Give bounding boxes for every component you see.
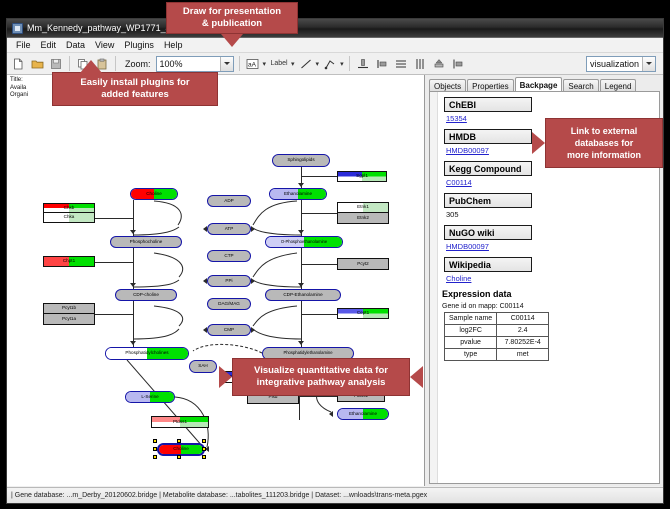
- callout-plugins-arrow: [80, 60, 102, 73]
- toolbar-separator: [115, 56, 116, 71]
- node-choline-selected[interactable]: Choline: [157, 443, 205, 456]
- chevron-down-icon[interactable]: [220, 57, 233, 71]
- node-dag-mag[interactable]: DAG/MAG: [207, 298, 251, 310]
- node-label: Phosphocholine: [130, 240, 163, 245]
- node-ptdss1[interactable]: Ptdss1: [151, 416, 209, 428]
- callout-draw-line1: Draw for presentation: [183, 6, 281, 18]
- arrow-icon: [251, 226, 255, 232]
- node-label: Phosphatidylcholines: [125, 351, 168, 356]
- chevron-down-icon[interactable]: [642, 57, 655, 71]
- node-label: CMP: [224, 328, 234, 333]
- zoom-label: Zoom:: [125, 59, 151, 69]
- edge-chk-to-spine: [95, 218, 133, 219]
- pathway-canvas[interactable]: Title: Availa Organi: [7, 75, 425, 486]
- info-organism-label: Organi: [10, 92, 28, 100]
- node-label: Sgpl1: [356, 174, 368, 179]
- node-label: Cept1: [357, 311, 369, 316]
- node-sah[interactable]: SAH: [189, 360, 217, 373]
- chevron-down-icon[interactable]: ▾: [316, 60, 320, 68]
- info-available-label: Availa: [10, 85, 28, 93]
- arrow-icon: [130, 230, 136, 234]
- selection-handle[interactable]: [177, 439, 181, 443]
- zoom-combobox[interactable]: 100%: [156, 56, 234, 72]
- align-left-icon[interactable]: [374, 56, 390, 72]
- callout-link-line2: databases for: [575, 137, 634, 149]
- callout-plugins-line2: added features: [101, 89, 169, 101]
- node-label: Ptdss1: [173, 420, 187, 425]
- new-file-icon[interactable]: [10, 56, 26, 72]
- side-panel-tabs: Objects Properties Backpage Search Legen…: [425, 75, 663, 91]
- interaction-tool-icon[interactable]: [322, 56, 338, 72]
- edge-pcyt2-to-spine: [301, 264, 337, 265]
- selection-handle[interactable]: [153, 447, 157, 451]
- node-o-phosphoethanolamine[interactable]: O-Phosphoethanolamine: [265, 236, 343, 248]
- info-title-label: Title:: [10, 77, 28, 85]
- node-pcyt2[interactable]: Pcyt2: [337, 258, 389, 270]
- menu-item-help[interactable]: Help: [159, 38, 188, 52]
- visualization-value: visualization: [590, 59, 639, 69]
- expr-key: Sample name: [445, 313, 497, 325]
- node-label: CDP-choline: [133, 293, 159, 298]
- node-etnk2[interactable]: Etnk2: [337, 213, 389, 224]
- node-cmp[interactable]: CMP: [207, 324, 251, 336]
- db-link-wikipedia[interactable]: Choline: [446, 274, 657, 283]
- node-atp[interactable]: ATP: [207, 223, 251, 235]
- callout-link-databases: Link to external databases for more info…: [545, 118, 663, 168]
- selection-handle[interactable]: [202, 447, 206, 451]
- arrow-icon: [203, 226, 207, 232]
- arrow-icon: [298, 230, 304, 234]
- menu-item-plugins[interactable]: Plugins: [119, 38, 159, 52]
- callout-visualize: Visualize quantitative data for integrat…: [232, 358, 410, 396]
- node-label: Choline: [146, 192, 162, 197]
- menu-item-edit[interactable]: Edit: [36, 38, 62, 52]
- node-label: L-Serine: [141, 395, 158, 400]
- expression-table: Sample name C00114 log2FC 2.4 pvalue 7.8…: [444, 312, 549, 361]
- node-label: Etnk2: [357, 216, 369, 221]
- status-bar: | Gene database: ...m_Derby_20120602.bri…: [7, 487, 663, 503]
- edge-ptdss2-to-spine: [299, 396, 337, 397]
- distribute-horizontal-icon[interactable]: [412, 56, 428, 72]
- visualization-combobox[interactable]: visualization: [586, 56, 656, 72]
- zoom-value: 100%: [160, 59, 183, 69]
- text-format-icon[interactable]: aA: [245, 56, 261, 72]
- db-header-hmdb: HMDB: [444, 129, 532, 144]
- tab-backpage[interactable]: Backpage: [515, 77, 563, 92]
- expr-key: type: [445, 349, 497, 361]
- node-phosphocholine[interactable]: Phosphocholine: [110, 236, 182, 248]
- node-label: Pcyt1b: [62, 306, 76, 311]
- node-chka[interactable]: Chka: [43, 213, 95, 223]
- node-ppi[interactable]: PPi: [207, 275, 251, 287]
- expr-val: 2.4: [497, 325, 549, 337]
- arrow-icon: [203, 278, 207, 284]
- table-row: pvalue 7.80252E-4: [445, 337, 549, 349]
- callout-draw-line2: & publication: [202, 18, 262, 30]
- node-label: DAG/MAG: [218, 302, 240, 307]
- callout-plugins-line1: Easily install plugins for: [80, 77, 189, 89]
- db-header-wikipedia: Wikipedia: [444, 257, 532, 272]
- svg-text:aA: aA: [248, 61, 257, 68]
- toolbar-separator: [349, 56, 350, 71]
- node-label: Pcyt2: [357, 262, 369, 267]
- callout-draw-arrow: [221, 34, 243, 47]
- label-dropdown[interactable]: Label: [269, 56, 289, 72]
- node-l-serine-left[interactable]: L-Serine: [125, 391, 175, 403]
- selection-handle[interactable]: [153, 455, 157, 459]
- menu-item-data[interactable]: Data: [61, 38, 90, 52]
- node-phosphatidylcholines[interactable]: Phosphatidylcholines: [105, 347, 189, 360]
- db-header-nugo-wiki: NuGO wiki: [444, 225, 532, 240]
- callout-link-line3: more information: [567, 149, 641, 161]
- node-label: CDP-Ethanolamine: [283, 293, 322, 298]
- node-pcyt1b[interactable]: Pcyt1b: [43, 303, 95, 314]
- callout-plugins: Easily install plugins for added feature…: [52, 72, 218, 106]
- arrow-icon: [203, 327, 207, 333]
- node-label: Pcyt1a: [62, 317, 76, 322]
- db-link-kegg-compound[interactable]: C00114: [446, 178, 657, 187]
- table-row: Sample name C00114: [445, 313, 549, 325]
- selection-handle[interactable]: [202, 439, 206, 443]
- expression-data-heading: Expression data: [442, 289, 657, 299]
- selection-handle[interactable]: [153, 439, 157, 443]
- arrow-icon: [130, 283, 136, 287]
- edge-cept1-to-spine: [301, 314, 337, 315]
- gene-id-line: Gene id on mapp: C00114: [442, 303, 657, 310]
- node-label: ADP: [224, 199, 233, 204]
- node-label: SAH: [198, 364, 207, 369]
- table-row: log2FC 2.4: [445, 325, 549, 337]
- db-value-pubchem: 305: [446, 210, 657, 219]
- node-ctp[interactable]: CTP: [207, 250, 251, 262]
- arrow-icon: [298, 183, 304, 187]
- edge-chpt1-to-spine: [95, 262, 133, 263]
- node-label: Choline: [173, 447, 189, 452]
- node-cdp-ethanolamine[interactable]: CDP-Ethanolamine: [265, 289, 341, 301]
- node-chkb[interactable]: Chkb: [43, 203, 95, 213]
- save-icon[interactable]: [48, 56, 64, 72]
- node-cdp-choline[interactable]: CDP-choline: [115, 289, 177, 301]
- screenshot-root: Mm_Kennedy_pathway_WP1771_45176.gpml Fil…: [0, 0, 670, 509]
- edge-pcyt1-to-spine: [95, 314, 133, 315]
- arrow-icon: [298, 283, 304, 287]
- node-label: Chka: [64, 215, 75, 220]
- node-label: Ethanolamine: [349, 412, 377, 417]
- db-header-chebi: ChEBI: [444, 97, 532, 112]
- align-bottom-icon[interactable]: [355, 56, 371, 72]
- node-label: Chkb: [64, 206, 75, 211]
- menu-item-file[interactable]: File: [11, 38, 36, 52]
- arrow-icon: [251, 278, 255, 284]
- arrow-icon: [298, 341, 304, 345]
- node-label: O-Phosphoethanolamine: [281, 240, 327, 244]
- node-pcyt1a[interactable]: Pcyt1a: [43, 314, 95, 325]
- node-sgpl1[interactable]: Sgpl1: [337, 171, 387, 182]
- open-folder-icon[interactable]: [29, 56, 45, 72]
- callout-link-arrow: [532, 132, 545, 154]
- callout-visualize-arrow-right: [410, 366, 423, 388]
- callout-visualize-line2: integrative pathway analysis: [257, 377, 386, 389]
- node-ethanolamine[interactable]: Ethanolamine: [269, 188, 327, 200]
- node-ethanolamine-right[interactable]: Ethanolamine: [337, 408, 389, 420]
- db-header-pubchem: PubChem: [444, 193, 532, 208]
- edge-sgpl1-to-spine: [301, 176, 337, 177]
- chevron-down-icon[interactable]: ▾: [340, 60, 344, 68]
- toolbar-separator: [69, 56, 70, 71]
- db-header-kegg-compound: Kegg Compound: [444, 161, 532, 176]
- chevron-down-icon[interactable]: ▾: [263, 60, 267, 68]
- selection-handle[interactable]: [177, 455, 181, 459]
- pathvisio-icon: [12, 23, 23, 34]
- arrow-icon: [329, 411, 333, 417]
- distribute-vertical-icon[interactable]: [393, 56, 409, 72]
- node-label: PPi: [225, 279, 232, 284]
- node-choline-top[interactable]: Choline: [130, 188, 178, 200]
- node-label: ATP: [225, 227, 234, 232]
- expr-key: pvalue: [445, 337, 497, 349]
- expr-val: met: [497, 349, 549, 361]
- line-tool-icon[interactable]: [298, 56, 314, 72]
- node-label: Sphingolipids: [287, 158, 314, 163]
- same-width-icon[interactable]: [450, 56, 466, 72]
- chevron-down-icon[interactable]: ▾: [291, 60, 295, 68]
- node-label: Etnk1: [357, 205, 369, 210]
- pathway-info-header: Title: Availa Organi: [10, 77, 28, 100]
- node-sphingolipids[interactable]: Sphingolipids: [272, 154, 330, 167]
- node-chpt1[interactable]: Chpt1: [43, 256, 95, 267]
- node-label: Phosphatidylethanolamine: [283, 351, 332, 355]
- callout-link-line1: Link to external: [571, 125, 638, 137]
- expr-key: log2FC: [445, 325, 497, 337]
- title-bar: Mm_Kennedy_pathway_WP1771_45176.gpml: [7, 19, 663, 38]
- arrow-icon: [130, 341, 136, 345]
- node-label: CTP: [224, 254, 233, 259]
- node-label: Chpt1: [63, 259, 75, 264]
- db-link-nugo-wiki[interactable]: HMDB00097: [446, 242, 657, 251]
- menu-item-view[interactable]: View: [90, 38, 119, 52]
- node-label: Ethanolamine: [284, 192, 312, 197]
- node-cept1[interactable]: Cept1: [337, 308, 389, 319]
- node-etnk1[interactable]: Etnk1: [337, 202, 389, 213]
- callout-visualize-arrow-left: [219, 366, 232, 388]
- expr-val: 7.80252E-4: [497, 337, 549, 349]
- menu-bar: File Edit Data View Plugins Help: [7, 38, 663, 53]
- node-adp[interactable]: ADP: [207, 195, 251, 207]
- stack-icon[interactable]: [431, 56, 447, 72]
- arrow-icon: [251, 327, 255, 333]
- expr-val: C00114: [497, 313, 549, 325]
- table-row: type met: [445, 349, 549, 361]
- selection-handle[interactable]: [202, 455, 206, 459]
- callout-draw: Draw for presentation & publication: [166, 2, 298, 34]
- callout-visualize-line1: Visualize quantitative data for: [254, 365, 388, 377]
- edge-etnk-to-spine: [301, 213, 337, 214]
- toolbar-separator: [239, 56, 240, 71]
